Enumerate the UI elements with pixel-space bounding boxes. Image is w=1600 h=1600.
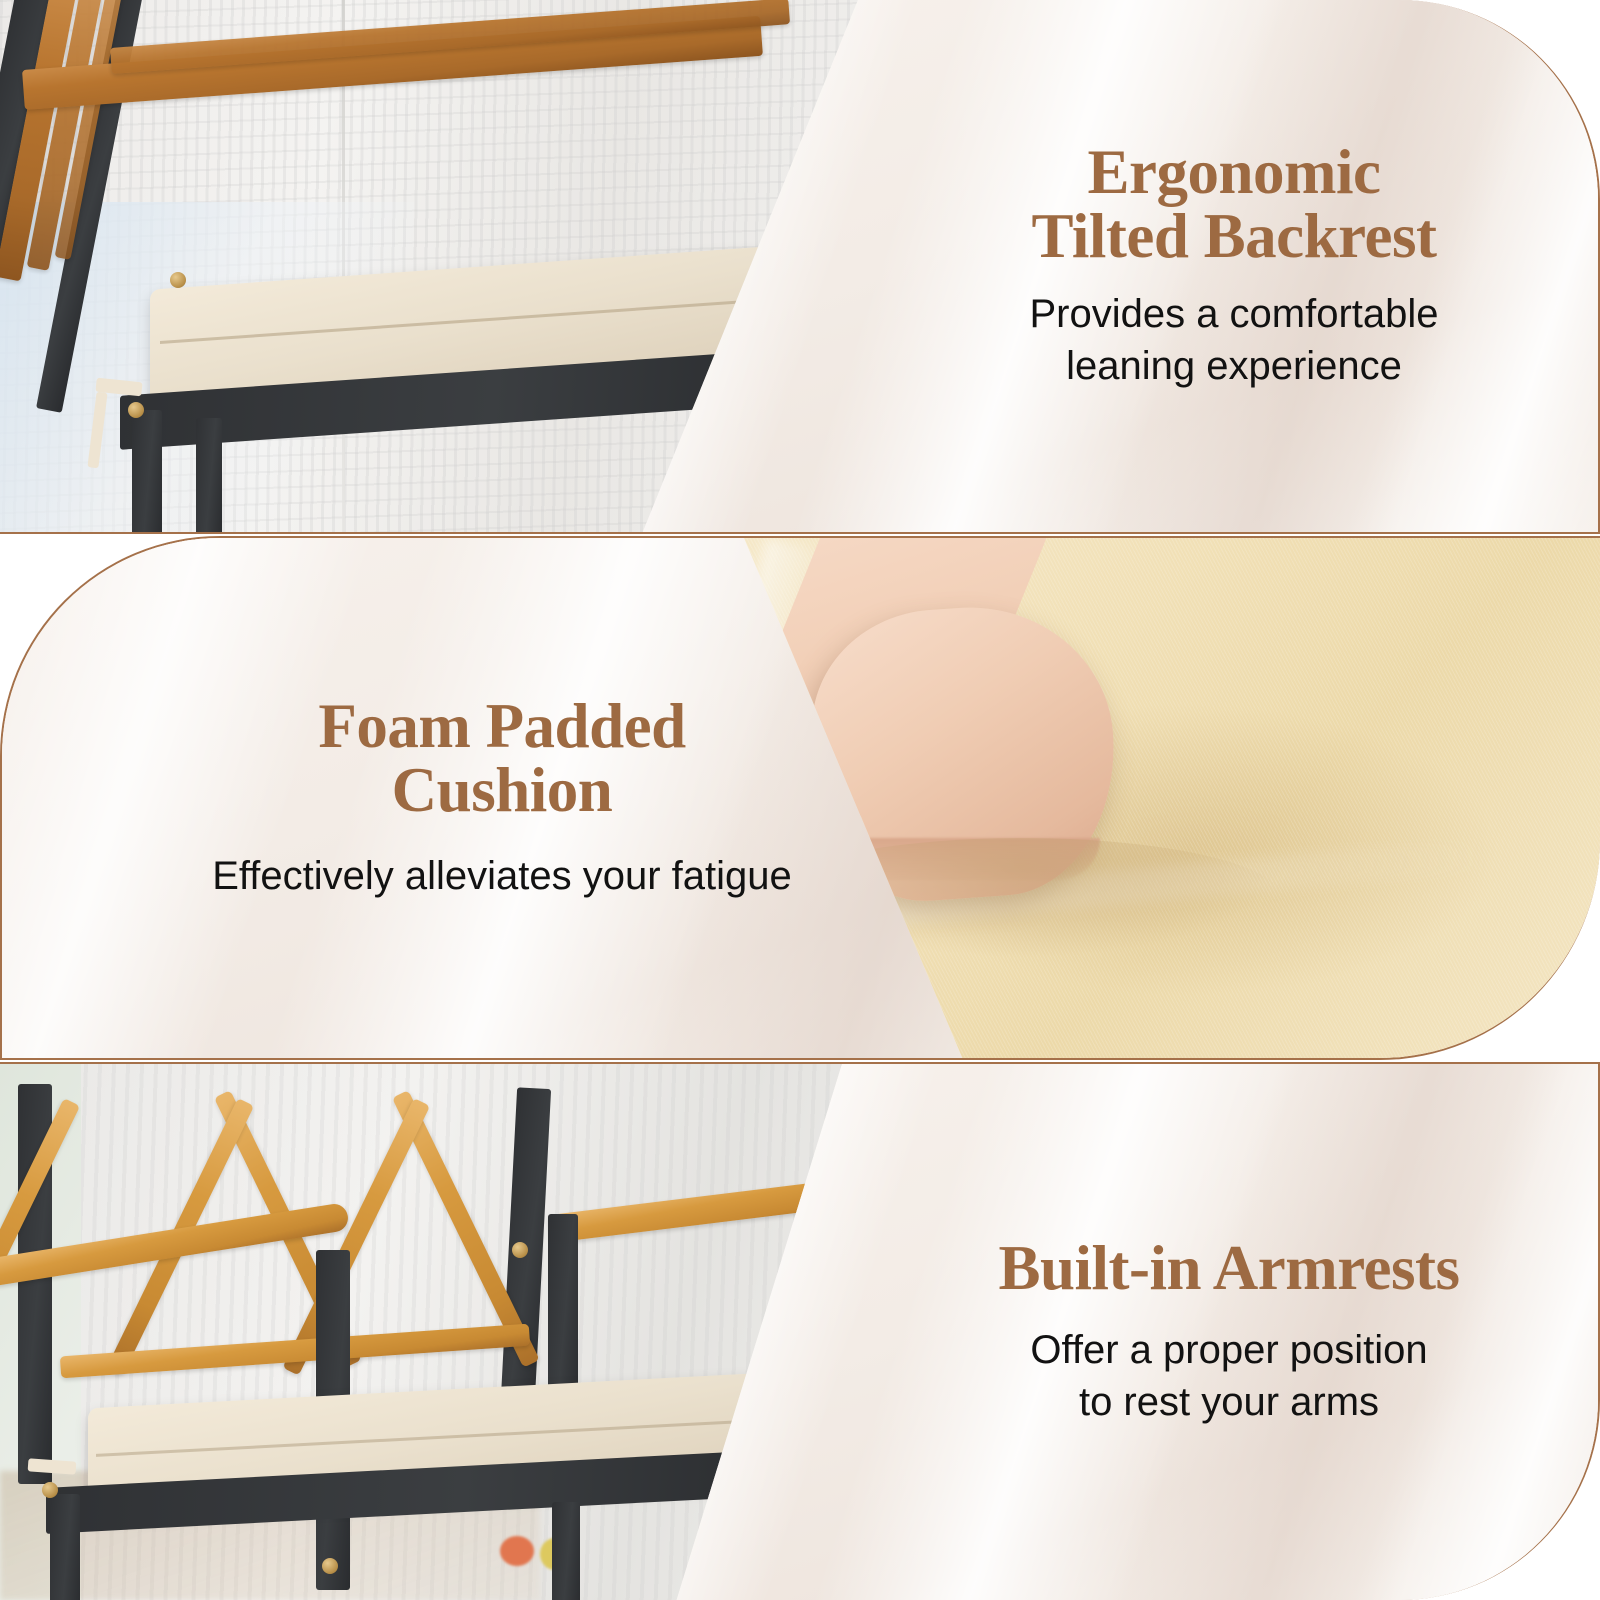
- panel-3-headline-line-1: Built-in Armrests: [998, 1233, 1459, 1303]
- panel-3-subcopy-line-1: Offer a proper position: [1030, 1328, 1427, 1372]
- panel-1-headline-line-2: Tilted Backrest: [1032, 201, 1437, 271]
- fruit-bowl-apple: [500, 1536, 534, 1566]
- front-leg-left-3: [50, 1494, 80, 1600]
- frame-rivet-seat: [42, 1482, 58, 1498]
- panel-1-headline: Ergonomic Tilted Backrest: [1032, 140, 1437, 269]
- panel-1-subcopy-line-2: leaning experience: [1066, 344, 1402, 388]
- frame-rivet-lower: [128, 402, 144, 418]
- panel-1-subcopy: Provides a comfortable leaning experienc…: [1029, 288, 1438, 392]
- feature-panel-foam-padded-cushion: Foam Padded Cushion Effectively alleviat…: [0, 536, 1600, 1060]
- panel-1-headline-line-1: Ergonomic: [1088, 137, 1381, 207]
- front-leg-right: [196, 418, 222, 532]
- frame-rivet-post: [322, 1558, 338, 1574]
- front-leg-left: [132, 410, 162, 532]
- panel-1-subcopy-line-1: Provides a comfortable: [1029, 292, 1438, 336]
- feature-panel-built-in-armrests: Built-in Armrests Offer a proper positio…: [0, 1062, 1600, 1600]
- frame-rivet-back: [512, 1242, 528, 1258]
- front-leg-right-3: [552, 1502, 580, 1600]
- panel-2-headline: Foam Padded Cushion: [318, 694, 685, 823]
- panel-3-headline: Built-in Armrests: [998, 1236, 1459, 1300]
- panel-3-subcopy-line-2: to rest your arms: [1079, 1380, 1379, 1424]
- product-feature-infographic: Ergonomic Tilted Backrest Provides a com…: [0, 0, 1600, 1600]
- feature-panel-ergonomic-tilted-backrest: Ergonomic Tilted Backrest Provides a com…: [0, 0, 1600, 534]
- panel-3-subcopy: Offer a proper position to rest your arm…: [1030, 1324, 1427, 1428]
- frame-rivet-upper: [170, 272, 186, 288]
- panel-2-headline-line-1: Foam Padded: [318, 691, 685, 761]
- panel-2-subcopy-line-1: Effectively alleviates your fatigue: [212, 854, 792, 898]
- panel-2-subcopy: Effectively alleviates your fatigue: [212, 850, 792, 902]
- panel-2-headline-line-2: Cushion: [392, 755, 613, 825]
